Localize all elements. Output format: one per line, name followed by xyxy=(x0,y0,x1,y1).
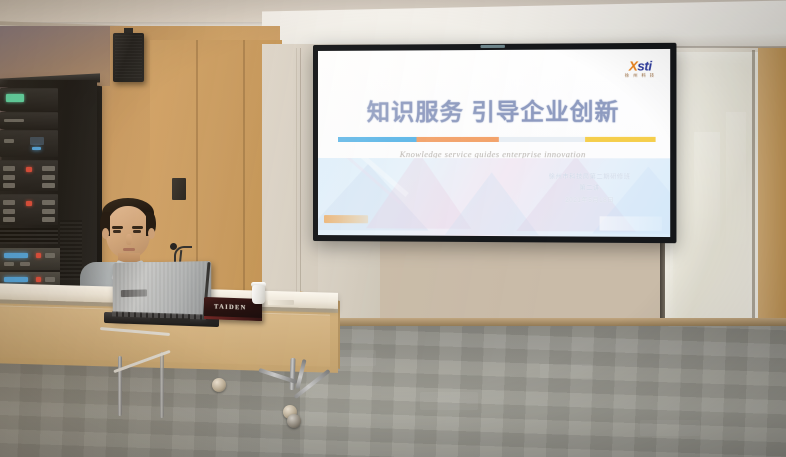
desk-paper xyxy=(268,300,294,305)
panel-line xyxy=(296,48,297,328)
wall-speaker-secondary xyxy=(172,178,186,200)
laptop-lid[interactable] xyxy=(113,261,211,320)
rack-unit-amplifier[interactable] xyxy=(0,160,58,191)
logo-subtext: 徐 州 科 技 xyxy=(625,74,656,78)
castor-wheel xyxy=(212,378,226,392)
color-bar-yellow xyxy=(585,137,656,142)
color-bar-pale xyxy=(498,137,584,142)
slide-title: 知识服务 引导企业创新 xyxy=(318,92,670,127)
microphone-gooseneck xyxy=(174,246,192,262)
eyebrow xyxy=(112,226,123,229)
desk-leg xyxy=(160,352,164,418)
wall-seam xyxy=(243,40,245,310)
taiden-brand-label: TAIDEN xyxy=(214,303,247,311)
rack-unit-amplifier[interactable] xyxy=(0,194,58,225)
slide-meta-line-1: 徐州市科技局第二期研修班 xyxy=(549,172,631,184)
display-indicator xyxy=(480,45,505,48)
ear xyxy=(148,228,155,239)
laptop-brand-badge xyxy=(121,289,147,297)
company-logo: Xsti 徐 州 科 技 xyxy=(625,59,656,78)
display-panel: Xsti 徐 州 科 技 知识服务 引导企业创新 Knowledge servi… xyxy=(318,49,670,237)
slide-graphic-area: 徐州市科技局第二期研修班 第二讲 2021年5月18日 xyxy=(318,158,670,237)
slide-upper-area: Xsti 徐 州 科 技 知识服务 引导企业创新 Knowledge servi… xyxy=(318,49,670,167)
mouth xyxy=(123,248,135,251)
slide-plate xyxy=(600,216,662,231)
rack-unit[interactable] xyxy=(0,130,58,157)
room-scene: Xsti 徐 州 科 技 知识服务 引导企业创新 Knowledge servi… xyxy=(0,0,786,457)
rack-unit-processor[interactable] xyxy=(0,248,60,270)
rack-unit-display[interactable] xyxy=(0,88,58,111)
castor-wheel xyxy=(287,414,301,428)
wall-speaker xyxy=(113,33,144,82)
desk-leg xyxy=(118,356,122,416)
eye xyxy=(113,230,121,233)
rack-unit[interactable] xyxy=(0,112,58,129)
eyebrow xyxy=(132,226,143,229)
slide-color-bar xyxy=(338,137,656,142)
rack-vent-panel xyxy=(0,228,58,244)
desk-cable-cluster xyxy=(150,318,190,322)
paper-cup[interactable] xyxy=(252,285,265,304)
ear xyxy=(102,228,109,239)
color-bar-orange xyxy=(416,137,498,142)
nose xyxy=(126,234,132,245)
wall-right-wood-panel xyxy=(758,48,786,348)
logo-sti-text: sti xyxy=(637,58,651,73)
slide-badge xyxy=(324,215,368,223)
slide: Xsti 徐 州 科 技 知识服务 引导企业创新 Knowledge servi… xyxy=(318,49,670,237)
presentation-display[interactable]: Xsti 徐 州 科 技 知识服务 引导企业创新 Knowledge servi… xyxy=(313,43,676,243)
slide-meta-date: 2021年5月18日 xyxy=(549,195,631,207)
panel-line xyxy=(300,48,301,328)
window-mullion xyxy=(752,50,755,340)
microphone-head xyxy=(170,243,177,250)
slide-meta-block: 徐州市科技局第二期研修班 第二讲 2021年5月18日 xyxy=(549,172,631,207)
wall-right-glass-panel xyxy=(664,52,760,344)
slide-meta-line-2: 第二讲 xyxy=(549,184,631,196)
eye xyxy=(133,230,141,233)
color-bar-blue xyxy=(338,137,416,142)
